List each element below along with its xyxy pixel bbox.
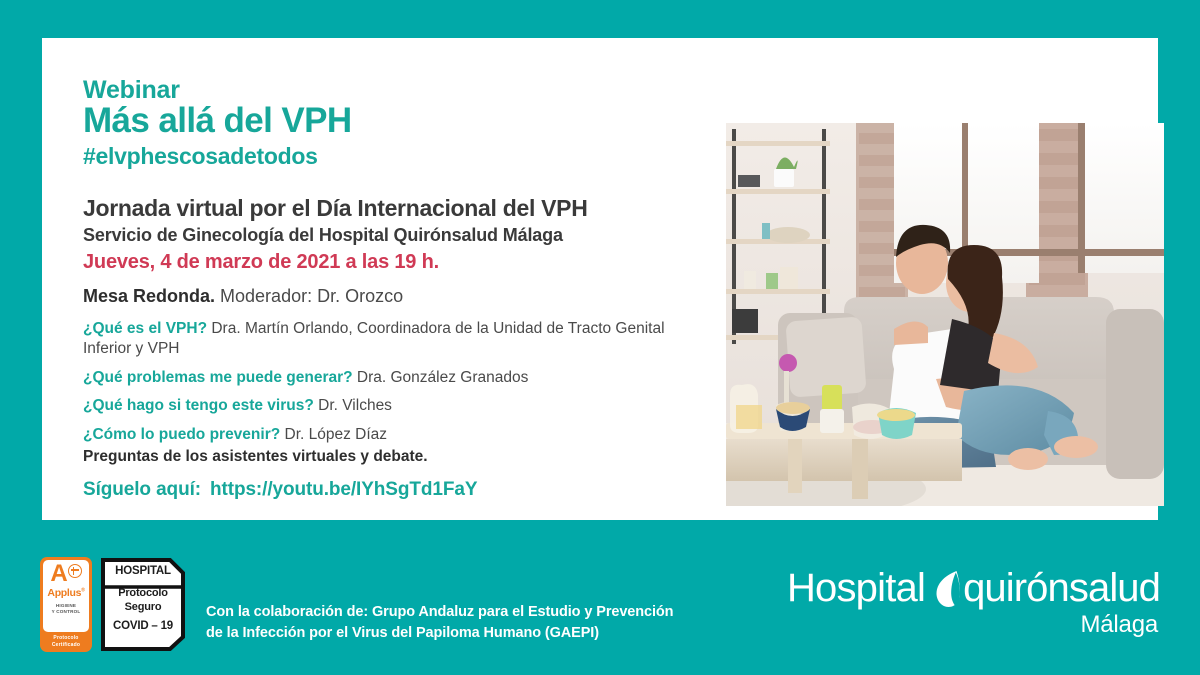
- applus-footer-line2: Certificado: [43, 642, 89, 649]
- applus-a-plus-mark: A: [50, 563, 81, 586]
- event-service: Servicio de Ginecología del Hospital Qui…: [83, 224, 683, 247]
- protocol-line2: Seguro: [118, 600, 168, 614]
- agenda-question: ¿Cómo lo puedo prevenir?: [83, 426, 280, 443]
- agenda-question: ¿Qué problemas me puede generar?: [83, 369, 353, 386]
- quironsalud-leaf-icon: [935, 570, 961, 608]
- certification-badges: A Applus® HIGIENE Y CONTROL Protocolo Ce…: [40, 557, 186, 652]
- logo-brand-word: quirónsalud: [963, 568, 1160, 608]
- list-item: ¿Qué problemas me puede generar? Dra. Go…: [83, 368, 683, 388]
- applus-subtitle-line2: Y CONTROL: [52, 609, 81, 615]
- follow-label: Síguelo aquí:: [83, 479, 201, 500]
- content-card: Webinar Más allá del VPH #elvphescosadet…: [42, 38, 1158, 520]
- kicker-webinar: Webinar: [83, 76, 683, 104]
- couple-on-sofa-photo: [726, 123, 1164, 506]
- applus-letter-a: A: [50, 563, 66, 586]
- list-item: ¿Cómo lo puedo prevenir? Dr. López Díaz: [83, 425, 683, 445]
- agenda-speaker: Dra. González Granados: [353, 369, 529, 386]
- protocol-badge-text: HOSPITAL Protocolo Seguro COVID – 19: [100, 557, 186, 652]
- text-column: Webinar Más allá del VPH #elvphescosadet…: [83, 76, 683, 503]
- protocol-badge-title: HOSPITAL: [115, 565, 171, 577]
- event-datetime: Jueves, 4 de marzo de 2021 a las 19 h.: [83, 250, 683, 275]
- applus-footer-line1: Protocolo: [43, 635, 89, 642]
- logo-hospital-word: Hospital: [787, 568, 925, 608]
- collaboration-line-2: de la Infección por el Virus del Papilom…: [206, 623, 673, 644]
- applus-brand-text: Applus: [47, 587, 81, 599]
- logo-city: Málaga: [787, 611, 1158, 639]
- applus-subtitle-line1: HIGIENE: [52, 603, 81, 609]
- webinar-poster: Webinar Más allá del VPH #elvphescosadet…: [0, 0, 1200, 675]
- roundtable-line: Mesa Redonda. Moderador: Dr. Orozco: [83, 285, 683, 308]
- agenda-speaker: Dr. López Díaz: [280, 426, 387, 443]
- covid-protocol-badge: HOSPITAL Protocolo Seguro COVID – 19: [100, 557, 186, 652]
- agenda-speaker: Dr. Vilches: [314, 397, 392, 414]
- applus-subtitle: HIGIENE Y CONTROL: [52, 603, 81, 615]
- campaign-hashtag: #elvphescosadetodos: [83, 142, 683, 170]
- protocol-line1: Protocolo: [118, 586, 168, 600]
- logo-main-row: Hospital quirónsalud: [787, 568, 1160, 608]
- agenda-question: ¿Qué hago si tengo este virus?: [83, 397, 314, 414]
- applus-brand: Applus®: [47, 587, 84, 599]
- follow-line: Síguelo aquí:https://youtu.be/IYhSgTd1Fa…: [83, 478, 683, 503]
- registered-mark: ®: [81, 587, 84, 593]
- footer: A Applus® HIGIENE Y CONTROL Protocolo Ce…: [0, 520, 1200, 675]
- collaboration-text: Con la colaboración de: Grupo Andaluz pa…: [206, 602, 673, 643]
- debate-note: Preguntas de los asistentes virtuales y …: [83, 447, 683, 467]
- plus-circle-icon: [68, 564, 82, 578]
- protocol-covid-label: COVID – 19: [113, 620, 173, 632]
- agenda-question: ¿Qué es el VPH?: [83, 320, 207, 337]
- quironsalud-logo: Hospital quirónsalud Málaga: [787, 568, 1160, 639]
- webinar-url-link[interactable]: https://youtu.be/IYhSgTd1FaY: [210, 479, 477, 500]
- collaboration-line-1: Con la colaboración de: Grupo Andaluz pa…: [206, 602, 673, 623]
- roundtable-label: Mesa Redonda.: [83, 286, 215, 306]
- agenda-list: ¿Qué es el VPH? Dra. Martín Orlando, Coo…: [83, 319, 683, 445]
- roundtable-moderator: Moderador: Dr. Orozco: [215, 286, 403, 306]
- list-item: ¿Qué hago si tengo este virus? Dr. Vilch…: [83, 396, 683, 416]
- applus-certification-badge: A Applus® HIGIENE Y CONTROL Protocolo Ce…: [40, 557, 92, 652]
- page-title: Más allá del VPH: [83, 102, 683, 141]
- protocol-badge-lines: Protocolo Seguro: [118, 586, 168, 614]
- applus-badge-inner: A Applus® HIGIENE Y CONTROL: [43, 560, 89, 632]
- applus-footer-text: Protocolo Certificado: [43, 635, 89, 649]
- list-item: ¿Qué es el VPH? Dra. Martín Orlando, Coo…: [83, 319, 683, 360]
- event-subject: Jornada virtual por el Día Internacional…: [83, 195, 683, 223]
